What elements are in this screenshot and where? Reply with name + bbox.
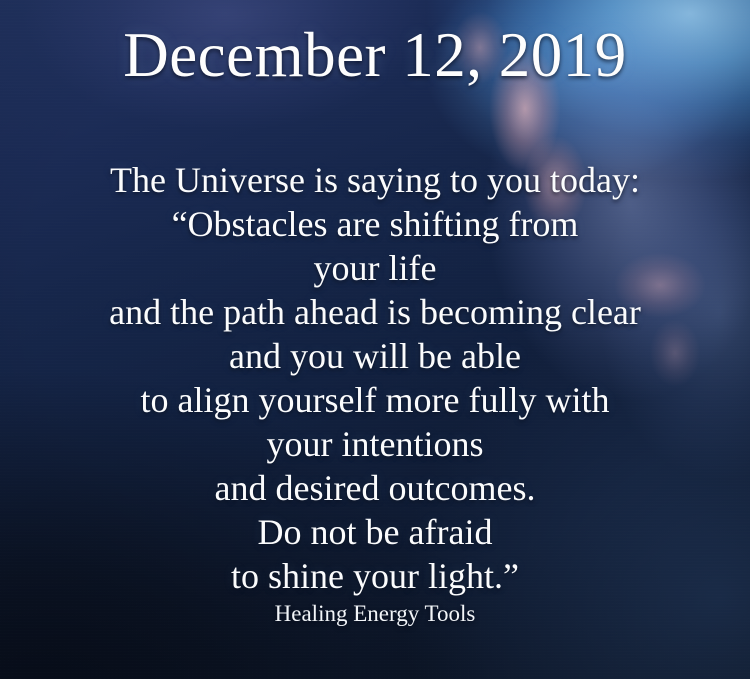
quote-line: to shine your light.”	[0, 554, 750, 598]
poster-content: December 12, 2019 The Universe is saying…	[0, 0, 750, 679]
quote-line: your intentions	[0, 422, 750, 466]
quote-line: to align yourself more fully with	[0, 378, 750, 422]
quote-line: and you will be able	[0, 334, 750, 378]
quote-intro-line: The Universe is saying to you today:	[0, 158, 750, 202]
quote-line: Do not be afraid	[0, 510, 750, 554]
quote-poster: December 12, 2019 The Universe is saying…	[0, 0, 750, 679]
quote-line: your life	[0, 246, 750, 290]
poster-date-title: December 12, 2019	[0, 24, 750, 87]
quote-line: and desired outcomes.	[0, 466, 750, 510]
quote-block: The Universe is saying to you today: “Ob…	[0, 158, 750, 628]
attribution-text: Healing Energy Tools	[0, 600, 750, 628]
quote-line: and the path ahead is becoming clear	[0, 290, 750, 334]
quote-line: “Obstacles are shifting from	[0, 202, 750, 246]
